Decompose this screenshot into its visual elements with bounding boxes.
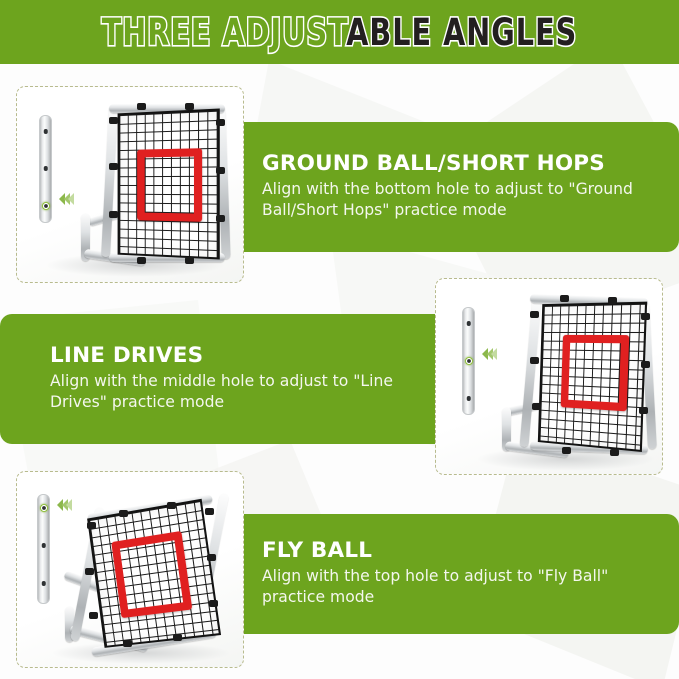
net-mesh	[538, 302, 647, 452]
net-clip	[137, 103, 146, 110]
net-clip	[610, 449, 619, 456]
net-clip	[216, 167, 225, 174]
net-clip	[109, 117, 118, 124]
page-title-outline-part: THREE ADJUST	[102, 11, 346, 54]
chevron-left-icon	[491, 348, 497, 360]
adjustment-leg-fly-ball	[37, 494, 50, 604]
rebounder-net-line-drives	[502, 291, 663, 469]
red-target-square	[137, 148, 202, 222]
photo-card-fly-ball	[16, 471, 244, 668]
net-clip	[532, 403, 541, 410]
chevron-left-triple-icon	[482, 348, 496, 360]
net-clip	[89, 612, 98, 619]
net-clip	[641, 361, 650, 368]
net-clip	[216, 215, 225, 222]
frame-left-post	[101, 105, 118, 257]
leg-hole-top-active	[40, 504, 48, 512]
photo-card-ground-ball-short-hops	[16, 86, 244, 283]
panel-title-ground-ball-short-hops: GROUND BALL/SHORT HOPS	[262, 153, 679, 176]
panel-description-ground-ball-short-hops: Align with the bottom hole to adjust to …	[262, 179, 672, 221]
net-clip	[205, 508, 214, 515]
leg-hole-top	[43, 129, 48, 134]
chevron-left-triple-icon	[59, 193, 73, 205]
panel-title-fly-ball: FLY BALL	[262, 540, 679, 563]
panel-fly-ball: FLY BALL Align with the top hole to adju…	[243, 514, 679, 634]
photo-card-line-drives	[435, 278, 663, 475]
net-mesh	[87, 499, 221, 648]
net-clip	[207, 554, 216, 561]
leg-hole-bottom-active	[42, 202, 50, 210]
leg-hole-middle-active	[465, 357, 473, 365]
net-clip	[185, 103, 194, 110]
product-photo-line-drives	[436, 279, 662, 474]
net-clip	[167, 502, 176, 509]
panel-line-drives: LINE DRIVES Align with the middle hole t…	[0, 314, 436, 444]
panel-title-line-drives: LINE DRIVES	[50, 345, 436, 368]
net-clip	[530, 357, 539, 364]
net-clip	[641, 313, 650, 320]
net-clip	[608, 297, 617, 304]
rebounder-net-fly-ball	[61, 488, 239, 660]
rebounder-net-ground-ball	[79, 101, 244, 276]
net-mesh	[118, 109, 220, 260]
net-clip	[185, 257, 194, 264]
net-clip	[216, 119, 225, 126]
net-clip	[87, 522, 96, 529]
net-clip	[173, 634, 182, 641]
panel-description-fly-ball: Align with the top hole to adjust to "Fl…	[262, 566, 672, 608]
net-clip	[119, 510, 128, 517]
header-banner: THREE ADJUSTABLE ANGLES	[0, 0, 679, 64]
net-clip	[109, 163, 118, 170]
product-photo-fly-ball	[17, 472, 243, 667]
leg-hole-bottom	[466, 396, 471, 401]
net-clip	[109, 211, 118, 218]
net-clip	[639, 407, 648, 414]
adjustment-leg-ground-ball	[39, 115, 52, 223]
panel-ground-ball-short-hops: GROUND BALL/SHORT HOPS Align with the bo…	[243, 122, 679, 252]
leg-hole-middle	[43, 166, 48, 171]
red-target-square	[111, 531, 192, 618]
net-clip	[562, 447, 571, 454]
net-clip	[137, 257, 146, 264]
page-title: THREE ADJUSTABLE ANGLES	[102, 14, 578, 51]
leg-hole-bottom	[41, 581, 46, 586]
red-target-square	[561, 335, 630, 411]
adjustment-leg-line-drives	[462, 307, 475, 415]
leg-hole-middle	[41, 543, 46, 548]
net-clip	[209, 600, 218, 607]
panel-description-line-drives: Align with the middle hole to adjust to …	[50, 371, 436, 413]
net-clip	[530, 311, 539, 318]
product-photo-ground-ball-short-hops	[17, 87, 243, 282]
net-clip	[560, 295, 569, 302]
net-clip	[123, 640, 132, 647]
chevron-left-icon	[68, 193, 74, 205]
net-clip	[85, 568, 94, 575]
page-title-solid-part: ABLE ANGLES	[346, 11, 577, 54]
leg-hole-top	[466, 321, 471, 326]
